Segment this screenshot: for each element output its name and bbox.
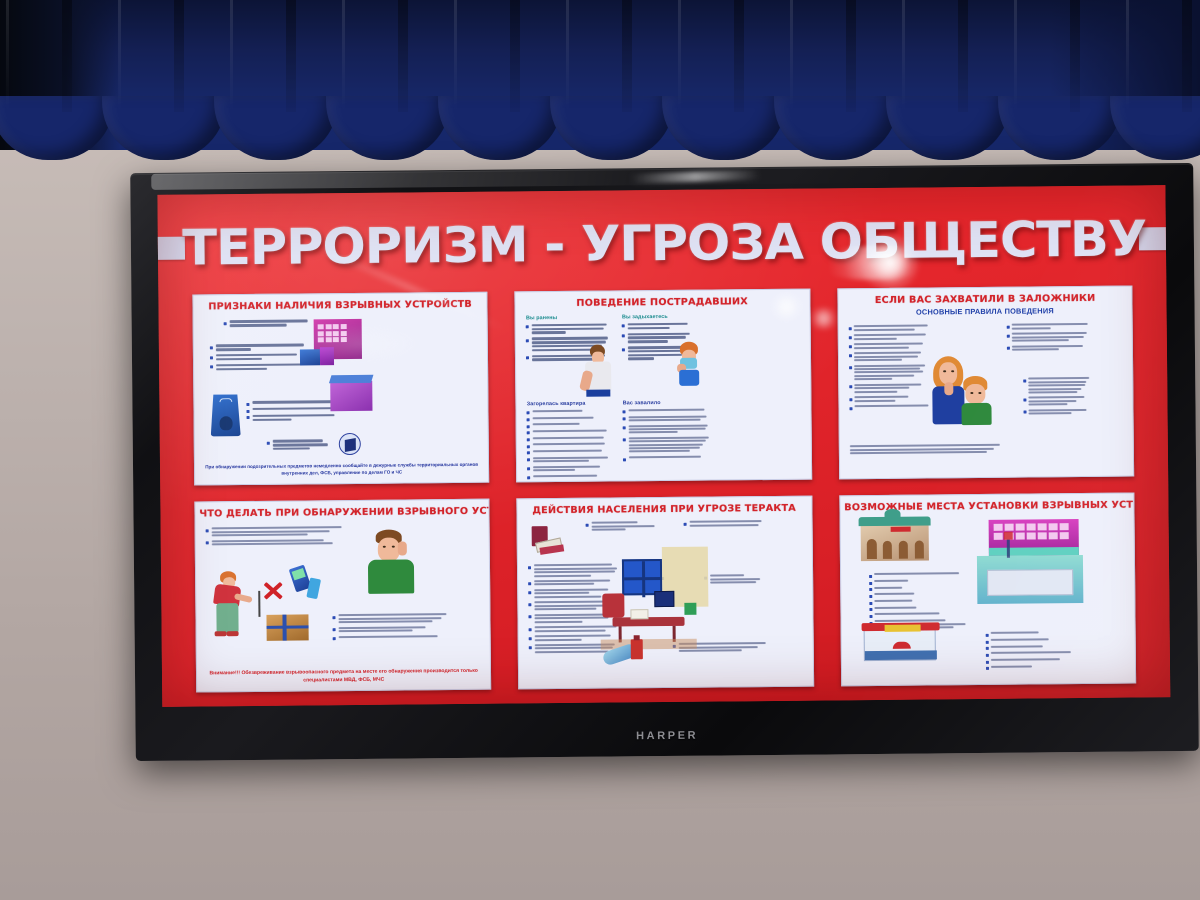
bullet-group [704,574,764,587]
television: HARPER ТЕРРОРИЗМ - УГРОЗА ОБЩЕСТВУ ПРИЗН… [130,163,1199,761]
panel-body [846,319,1125,472]
bullet-group-apartment-fire: Загорелась квартира [527,401,614,482]
curtain-scallop [0,96,114,160]
illustration-case [300,350,320,366]
illustration-tv [655,591,675,607]
tv-screen: ТЕРРОРИЗМ - УГРОЗА ОБЩЕСТВУ ПРИЗНАКИ НАЛ… [157,185,1170,707]
bullet-group [267,440,335,454]
panel-header: ЕСЛИ ВАС ЗАХВАТИЛИ В ЗАЛОЖНИКИ [842,294,1128,307]
illustration-medicine-bottle [631,640,643,660]
panel-possible-placement-locations: ВОЗМОЖНЫЕ МЕСТА УСТАНОВКИ ВЗРЫВНЫХ УСТРО… [839,492,1136,686]
curtain-pleat [846,0,856,112]
curtain-pleat [286,0,296,112]
illustration-magnifier-circle [339,433,361,455]
bullet-group-buried: Вас завалило [623,400,712,463]
subsection-title: Вы ранены [526,315,610,322]
panel-behaviour-of-victims: ПОВЕДЕНИЕ ПОСТРАДАВШИХ Вы ранены Вы зады… [515,289,812,483]
illustration-station-building [860,523,928,562]
illustration-armchair [603,594,625,618]
panel-footer: При обнаружении подозрительных предметов… [203,462,480,478]
bullet-group [586,521,658,534]
bullet-group [684,520,768,530]
panel-population-actions-on-threat: ДЕЙСТВИЯ НАСЕЛЕНИЯ ПРИ УГРОЗЕ ТЕРАКТА [517,496,814,690]
curtain-pleat [398,0,408,112]
illustration-radio [306,578,321,600]
bullet-group [1023,377,1093,418]
illustration-box [320,348,334,366]
curtain-pleat [958,0,968,112]
curtain-pleat [1014,0,1017,112]
panel-header: ДЕЙСТВИЯ НАСЕЛЕНИЯ ПРИ УГРОЗЕ ТЕРАКТА [522,504,808,517]
panel-what-to-do-on-finding-device: ЧТО ДЕЛАТЬ ПРИ ОБНАРУЖЕНИИ ВЗРЫВНОГО УСТ… [194,499,491,693]
curtain-pleat [174,0,184,112]
curtain-pleat [902,0,905,112]
poster-panel-grid: ПРИЗНАКИ НАЛИЧИЯ ВЗРЫВНЫХ УСТРОЙСТВ [192,286,1136,693]
curtain-pleat [790,0,793,112]
room-scene: HARPER ТЕРРОРИЗМ - УГРОЗА ОБЩЕСТВУ ПРИЗН… [0,0,1200,900]
illustration-table [613,617,685,627]
bullet-marker [224,322,227,325]
panel-body [202,314,481,465]
curtain-pleat [1182,0,1192,112]
subsection-title: Вас завалило [623,400,711,407]
illustration-green-box [685,603,697,615]
bullet-group [210,344,308,374]
subsection-title: Вы задыхаетесь [622,314,692,321]
bullet-group [224,320,310,331]
window-curtain [0,0,1200,150]
curtain-pleat [230,0,233,112]
bullet-group [332,613,450,642]
panel-if-taken-hostage: ЕСЛИ ВАС ЗАХВАТИЛИ В ЗАЛОЖНИКИ ОСНОВНЫЕ … [837,286,1134,480]
illustration-plaza [977,555,1083,604]
tv-brand-label: HARPER [136,725,1199,747]
subsection-title: Загорелась квартира [527,401,613,408]
curtain-pleat [510,0,520,112]
curtain-pleat [6,0,9,112]
panel-footer: Внимание!!! Обезвреживание взрывоопасног… [205,668,482,685]
panel-body [204,521,483,671]
panel-body: Вы ранены Вы задыхаетесь Загор [524,311,803,475]
curtain-pleat [566,0,569,112]
page-title: ТЕРРОРИЗМ - УГРОЗА ОБЩЕСТВУ [182,214,1146,272]
illustration-shopping-bag [210,394,240,436]
panel-signs-of-explosive-devices: ПРИЗНАКИ НАЛИЧИЯ ВЗРЫВНЫХ УСТРОЙСТВ [192,292,489,486]
curtain-pleat [1126,0,1129,112]
illustration-market-kiosk [863,629,935,662]
curtain-pleat [1070,0,1080,112]
bullet-group [206,526,346,549]
bullet-group-wide [850,444,1010,456]
bullet-group [246,400,338,424]
curtain-pleat [454,0,457,112]
panel-body [848,515,1127,679]
bullet-group [1006,323,1090,354]
illustration-window [622,559,662,595]
panel-body [526,518,805,682]
poster-title-band: ТЕРРОРИЗМ - УГРОЗА ОБЩЕСТВУ [158,207,1167,279]
curtain-pleat [62,0,72,112]
title-dash-left [157,236,184,260]
bullet-group [985,631,1083,672]
illustration-parcel [266,615,308,641]
illustration-shopping-mall [988,519,1078,556]
panel-header: ЧТО ДЕЛАТЬ ПРИ ОБНАРУЖЕНИИ ВЗРЫВНОГО УСТ… [199,507,485,520]
curtain-pleat [118,0,121,112]
curtain-pleat [678,0,681,112]
bullet-group [848,325,931,412]
illustration-open-box [330,381,372,411]
curtain-pleat [734,0,744,112]
panel-header: ПОВЕДЕНИЕ ПОСТРАДАВШИХ [520,297,806,310]
curtain-pleat [622,0,632,112]
curtain-pleat [342,0,345,112]
panel-subheader: ОСНОВНЫЕ ПРАВИЛА ПОВЕДЕНИЯ [846,306,1123,318]
